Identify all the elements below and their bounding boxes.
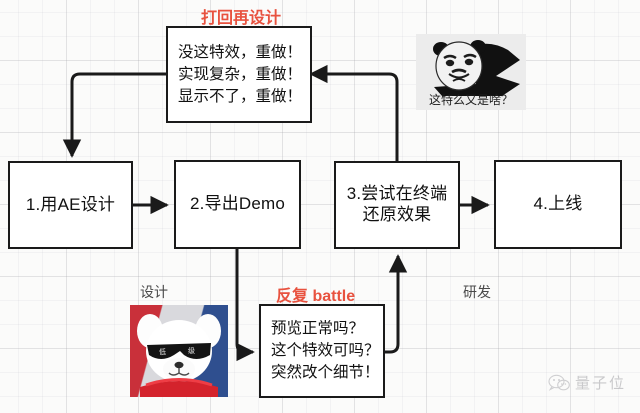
- node-4-launch[interactable]: 4.上线: [494, 160, 622, 249]
- wechat-icon: [548, 374, 570, 392]
- node-4-label: 4.上线: [534, 194, 583, 215]
- wire-battle-to-n3: [385, 256, 398, 352]
- callout-label-battle: 反复 battle: [276, 282, 355, 306]
- wire-rework-to-n1: [72, 74, 166, 156]
- role-label-dev: 研发: [463, 282, 491, 302]
- cool-dog-icon: [130, 305, 228, 397]
- callout-rework-line-1: 没这特效，重做！: [178, 42, 301, 64]
- node-1-label: 1.用AE设计: [26, 195, 115, 216]
- diagram-canvas: 打回再设计 没这特效，重做！ 实现复杂，重做！ 显示不了，重做！: [0, 0, 640, 413]
- dog-glasses-text-right: 级: [188, 346, 196, 356]
- callout-battle-line-2: 这个特效可吗？: [271, 340, 374, 362]
- callout-rework-line-3: 显示不了，重做！: [178, 86, 301, 108]
- node-3-label: 3.尝试在终端 还原效果: [347, 184, 448, 225]
- wire-n2-to-battle: [237, 248, 253, 352]
- callout-battle-line-3: 突然改个细节！: [271, 362, 374, 384]
- watermark: 量子位: [548, 372, 626, 393]
- callout-battle-line-1: 预览正常吗？: [271, 318, 374, 340]
- role-label-design: 设计: [140, 282, 168, 302]
- callout-box-rework: 没这特效，重做！ 实现复杂，重做！ 显示不了，重做！: [166, 26, 312, 123]
- meme-angry-panda-caption: 这特么又是啥？: [416, 91, 526, 108]
- dog-glasses-text-left: 低: [159, 347, 167, 357]
- watermark-text: 量子位: [575, 372, 626, 393]
- node-2-export-demo[interactable]: 2.导出Demo: [174, 160, 301, 249]
- callout-box-battle: 预览正常吗？ 这个特效可吗？ 突然改个细节！: [259, 304, 385, 398]
- meme-angry-panda: 这特么又是啥？: [416, 34, 526, 110]
- node-2-label: 2.导出Demo: [190, 194, 285, 215]
- node-1-design-in-ae[interactable]: 1.用AE设计: [8, 161, 133, 249]
- wire-n3-to-rework: [311, 74, 397, 162]
- node-3-restore-on-device[interactable]: 3.尝试在终端 还原效果: [334, 161, 460, 249]
- callout-label-rework: 打回再设计: [201, 4, 281, 28]
- callout-rework-line-2: 实现复杂，重做！: [178, 64, 301, 86]
- meme-cool-dog: 低 级: [130, 305, 228, 397]
